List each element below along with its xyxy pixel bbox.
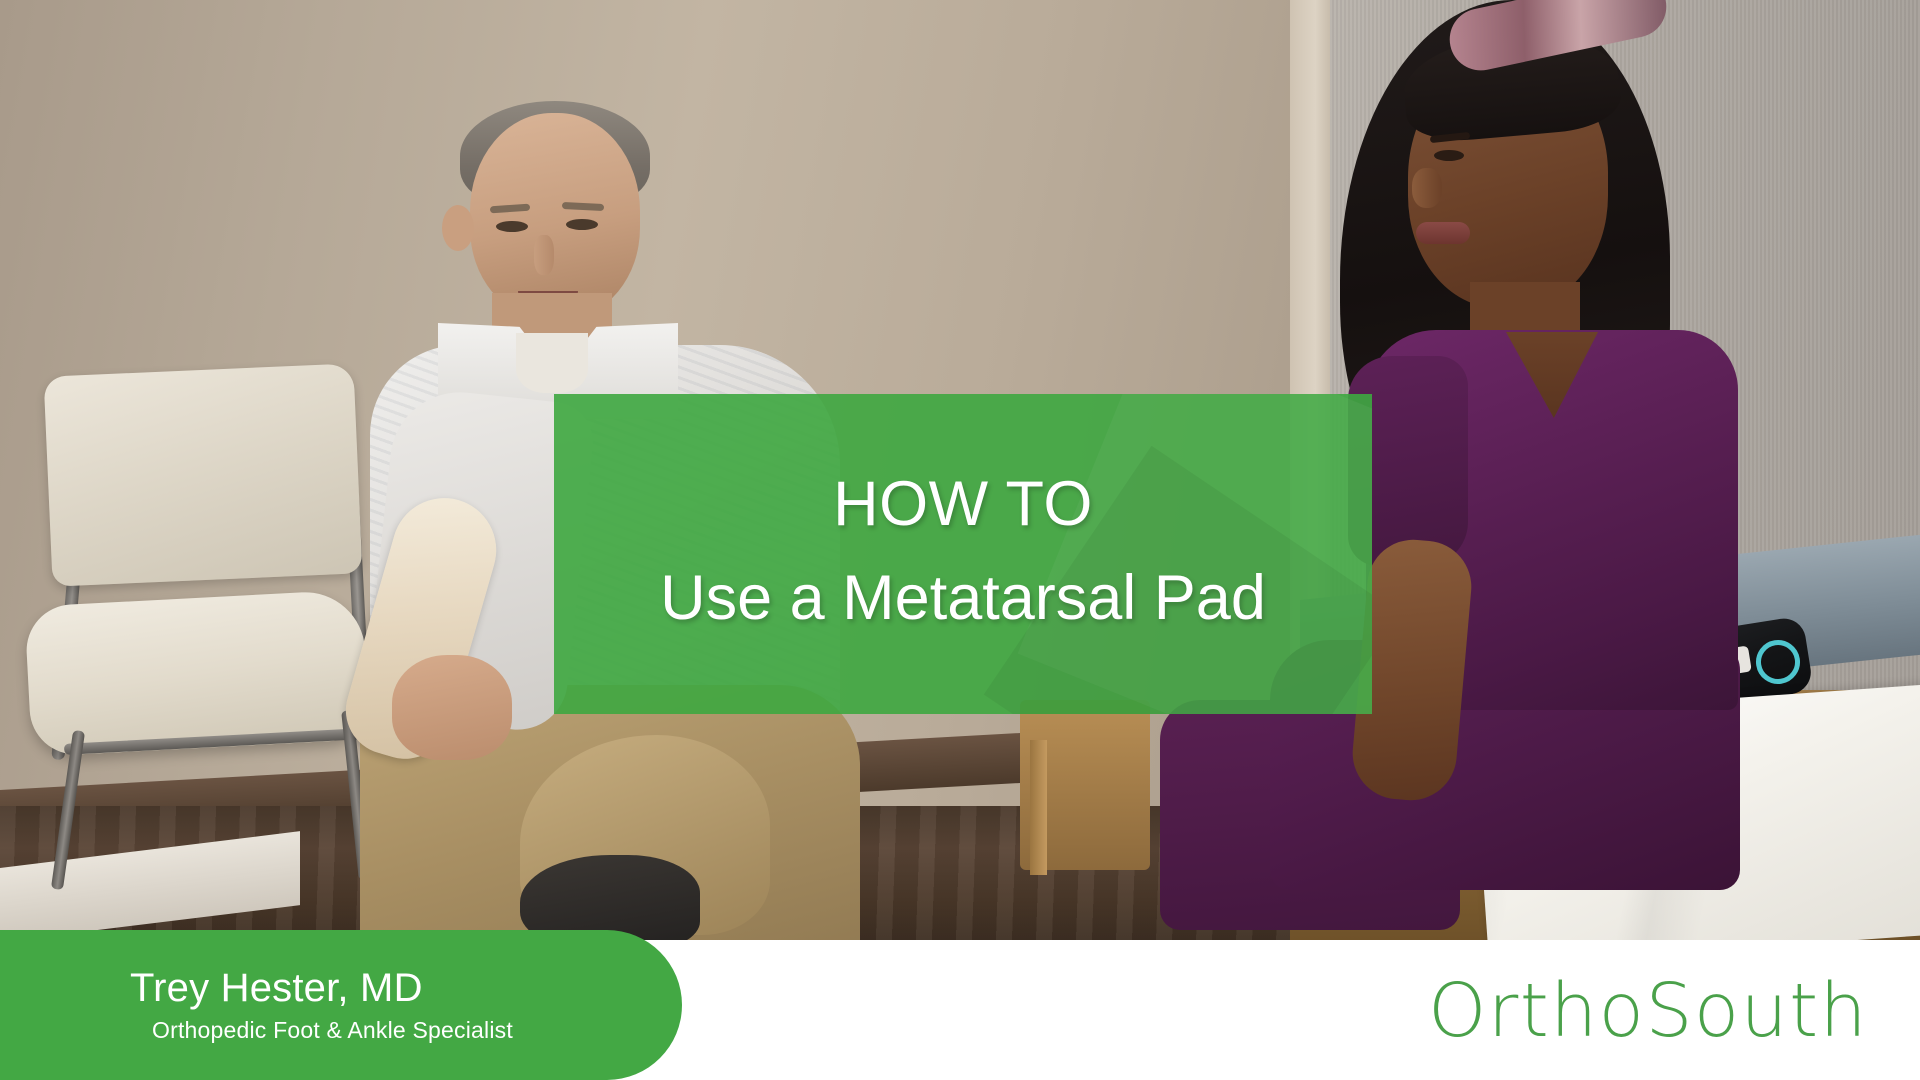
patient-lips bbox=[1416, 222, 1470, 244]
doctor-head bbox=[470, 113, 640, 318]
orthosouth-logo: OrthoSouth bbox=[1428, 974, 1868, 1048]
doctor-eye-left bbox=[496, 221, 528, 232]
presenter-name-pill: Trey Hester, MD Orthopedic Foot & Ankle … bbox=[0, 930, 682, 1080]
doctor-undershirt bbox=[516, 333, 588, 393]
chair-backrest bbox=[44, 363, 363, 586]
lower-third-bar: Trey Hester, MD Orthopedic Foot & Ankle … bbox=[0, 940, 1920, 1080]
video-still-photo: HOW TO Use a Metatarsal Pad bbox=[0, 0, 1920, 940]
patient-nose bbox=[1412, 168, 1442, 208]
patient-figure bbox=[1330, 0, 1760, 900]
presenter-name: Trey Hester, MD bbox=[130, 966, 682, 1010]
video-title-card: HOW TO Use a Metatarsal Pad Trey Hester,… bbox=[0, 0, 1920, 1080]
waiting-chair bbox=[20, 370, 400, 900]
title-headline: Use a Metatarsal Pad bbox=[660, 561, 1266, 637]
title-kicker: HOW TO bbox=[833, 471, 1093, 537]
patient-eye bbox=[1434, 150, 1464, 161]
doctor-shoe bbox=[520, 855, 700, 940]
doctor-ear bbox=[442, 205, 474, 251]
title-overlay-card: HOW TO Use a Metatarsal Pad bbox=[554, 394, 1372, 714]
stool-leg bbox=[1030, 740, 1047, 875]
doctor-eye-right bbox=[566, 219, 598, 230]
doctor-hand bbox=[392, 655, 512, 760]
presenter-role: Orthopedic Foot & Ankle Specialist bbox=[152, 1017, 682, 1045]
doctor-nose bbox=[534, 235, 554, 275]
